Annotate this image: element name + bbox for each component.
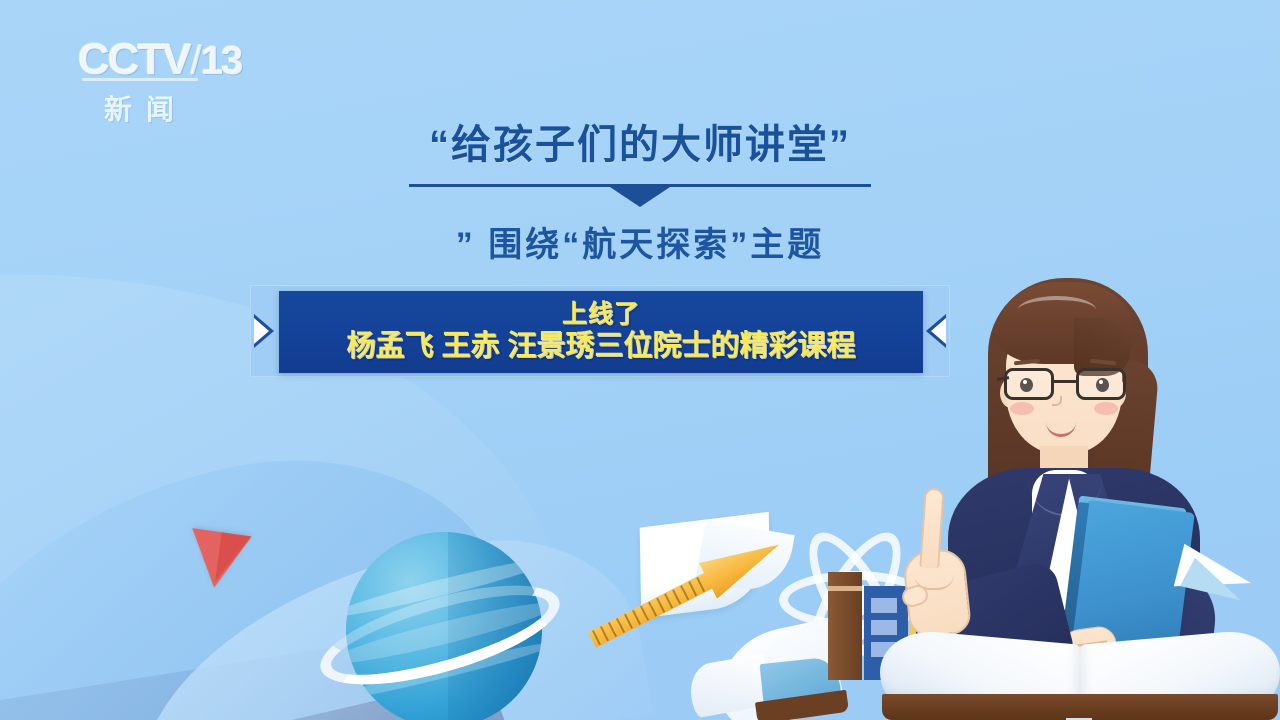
open-book-small-icon [690,660,840,720]
broadcast-frame: CCTV/13 新闻 “给孩子们的大师讲堂” ” 围绕“航天探索”主题 上线了 … [0,0,1280,720]
kite-icon [184,528,251,592]
banner-line-1: 上线了 [562,301,640,329]
banner-line-2: 杨孟飞 王赤 汪景琇三位院士的精彩课程 [346,331,855,363]
logo-separator: / [191,39,200,83]
banner-body: 上线了 杨孟飞 王赤 汪景琇三位院士的精彩课程 [279,291,923,373]
open-book-icon [880,636,1280,720]
planet-icon [330,520,570,720]
page-subtitle: ” 围绕“航天探索”主题 [0,217,1280,266]
title-divider [409,184,871,187]
arrow-right-icon [926,314,946,348]
headline-block: “给孩子们的大师讲堂” ” 围绕“航天探索”主题 [0,112,1280,266]
glasses-icon [1002,368,1128,402]
page-title: “给孩子们的大师讲堂” [0,112,1280,170]
arrow-left-icon [254,314,274,348]
lower-third-banner: 上线了 杨孟飞 王赤 汪景琇三位院士的精彩课程 [250,285,950,377]
logo-cctv-text: CCTV [78,35,190,84]
logo-channel-number: 13 [201,39,242,83]
